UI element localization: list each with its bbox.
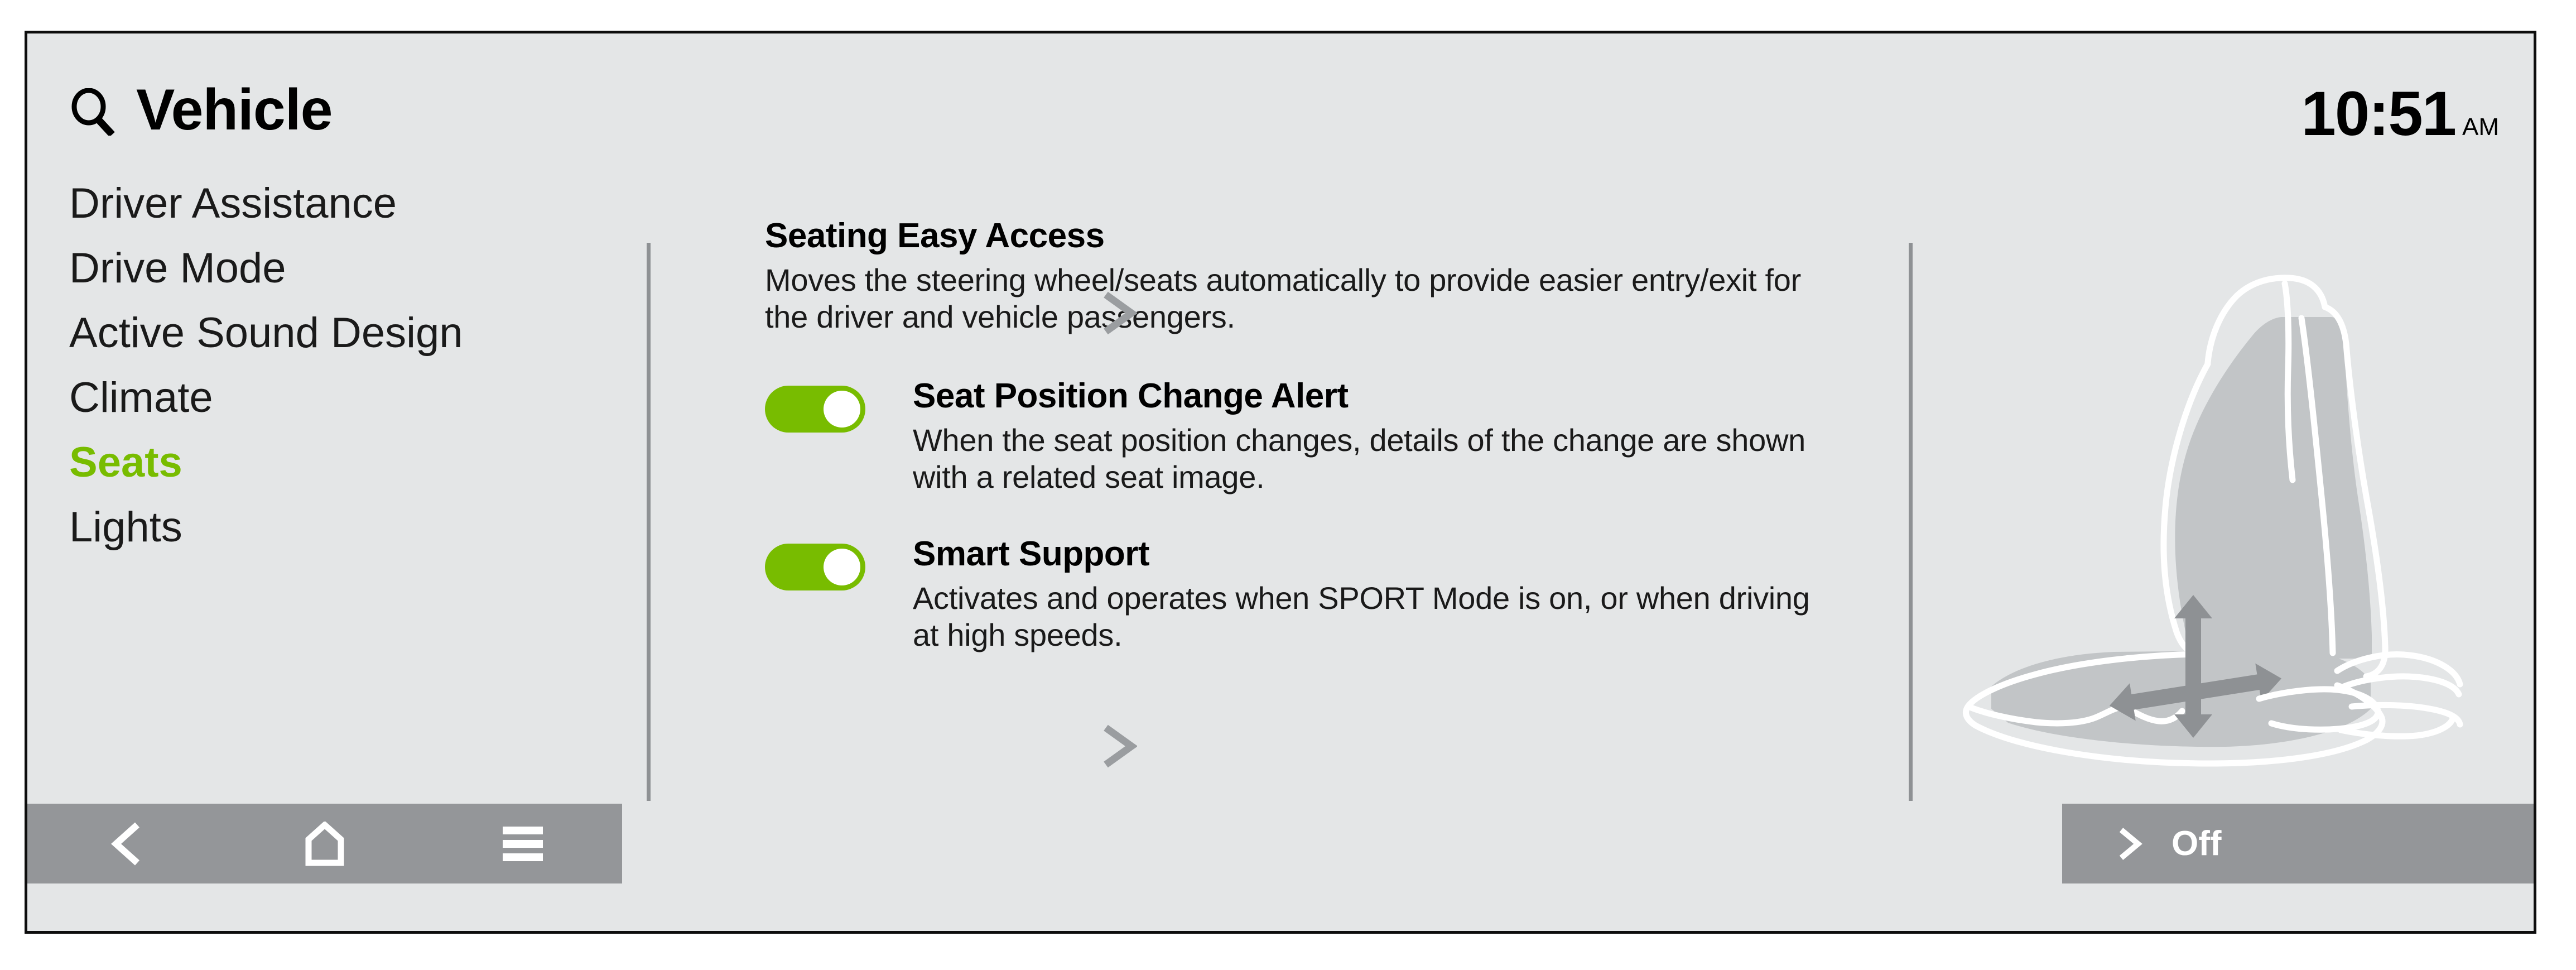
toggle-knob [824, 391, 860, 428]
hamburger-menu-icon [503, 827, 543, 861]
off-button[interactable]: Off [2062, 804, 2534, 883]
setting-description: Activates and operates when SPORT Mode i… [913, 580, 1825, 654]
bottom-navigation-bar [27, 804, 622, 883]
sidebar-item-climate[interactable]: Climate [69, 366, 622, 430]
sidebar-divider [647, 243, 651, 801]
setting-title: Seating Easy Access [765, 218, 1825, 255]
toggle-knob [824, 549, 860, 585]
chevron-right-icon-smart-support[interactable] [1101, 724, 1137, 768]
sidebar-item-lights[interactable]: Lights [69, 495, 622, 560]
setting-description: When the seat position changes, details … [913, 422, 1825, 496]
content-illustration-divider [1909, 243, 1913, 801]
sidebar-item-driver-assistance[interactable]: Driver Assistance [69, 171, 622, 236]
setting-smart-support[interactable]: Smart Support Activates and operates whe… [765, 536, 1825, 654]
chevron-right-icon [2118, 827, 2142, 861]
chevron-right-icon-seating-easy-access[interactable] [1101, 291, 1137, 335]
car-seat-adjustment-illustration [1947, 218, 2510, 798]
home-icon [303, 822, 346, 866]
clock: 10:51 AM [2301, 83, 2499, 145]
sidebar-item-drive-mode[interactable]: Drive Mode [69, 236, 622, 301]
clock-meridiem: AM [2462, 115, 2499, 140]
setting-seating-easy-access[interactable]: Seating Easy Access Moves the steering w… [765, 218, 1825, 335]
sidebar-item-active-sound-design[interactable]: Active Sound Design [69, 301, 622, 366]
sidebar-item-seats[interactable]: Seats [69, 430, 622, 495]
setting-description: Moves the steering wheel/seats automatic… [765, 262, 1825, 335]
setting-body: Seat Position Change Alert When the seat… [913, 378, 1825, 496]
sidebar: Driver Assistance Drive Mode Active Soun… [27, 159, 622, 806]
menu-button[interactable] [424, 804, 622, 883]
infotainment-screen: Vehicle 10:51 AM Driver Assistance Drive… [25, 31, 2536, 934]
setting-seat-position-change-alert[interactable]: Seat Position Change Alert When the seat… [765, 378, 1825, 496]
settings-list: Seating Easy Access Moves the steering w… [765, 218, 1825, 654]
back-chevron-icon [109, 822, 144, 866]
home-button[interactable] [225, 804, 423, 883]
setting-title: Seat Position Change Alert [913, 378, 1825, 415]
off-button-label: Off [2171, 827, 2222, 861]
seat-position-change-alert-toggle[interactable] [765, 386, 865, 433]
smart-support-toggle[interactable] [765, 544, 865, 590]
back-button[interactable] [27, 804, 225, 883]
page-title: Vehicle [136, 81, 332, 139]
clock-time: 10:51 [2301, 83, 2455, 145]
setting-title: Smart Support [913, 536, 1825, 573]
header: Vehicle 10:51 AM [27, 33, 2534, 159]
setting-body: Smart Support Activates and operates whe… [913, 536, 1825, 654]
search-icon[interactable] [69, 88, 117, 136]
